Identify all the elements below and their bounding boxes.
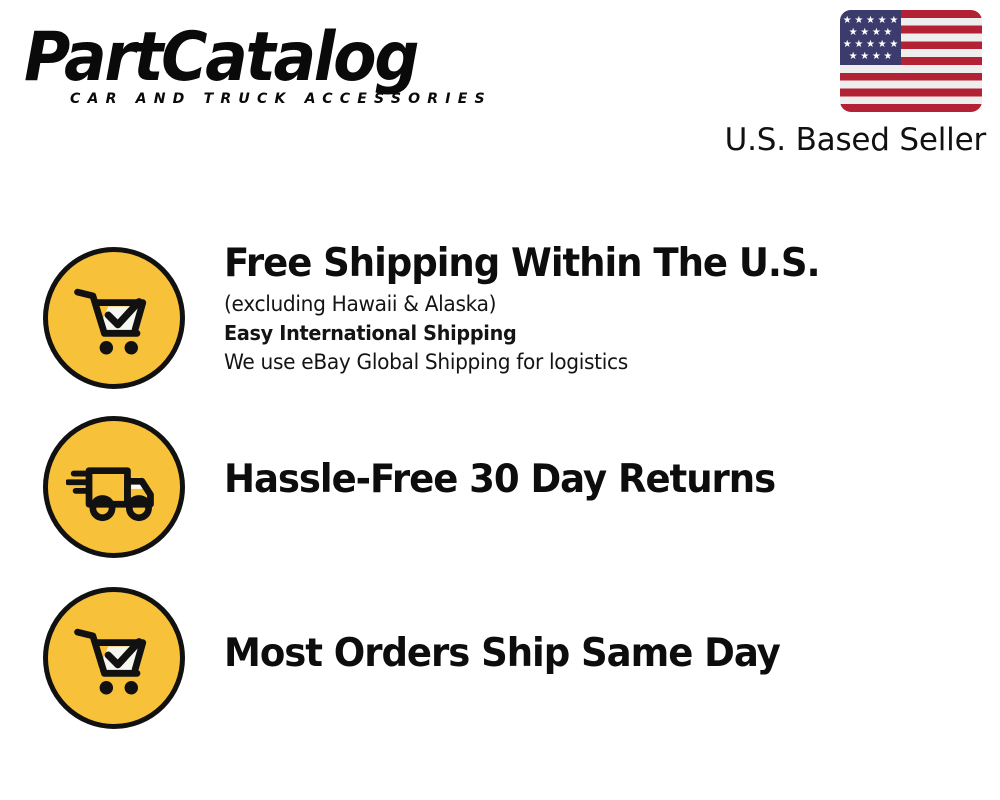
feature-text-block: Hassle-Free 30 Day Returns bbox=[224, 456, 980, 503]
feature-headline: Most Orders Ship Same Day bbox=[224, 630, 942, 677]
brand-logo[interactable]: PartCatalog CAR AND TRUCK ACCESSORIES bbox=[24, 22, 494, 117]
feature-headline: Free Shipping Within The U.S. bbox=[224, 240, 942, 287]
feature-row: Hassle-Free 30 Day Returns bbox=[0, 410, 1000, 582]
flag-star-row: ★★★★★ bbox=[840, 16, 901, 26]
feature-subline-strong: Easy International Shipping bbox=[224, 319, 950, 347]
flag-star-row: ★★★★ bbox=[840, 28, 901, 38]
shopping-cart-check-icon bbox=[43, 587, 185, 729]
brand-tagline: CAR AND TRUCK ACCESSORIES bbox=[70, 91, 492, 107]
feature-row: Most Orders Ship Same Day bbox=[0, 582, 1000, 752]
us-based-seller-label: U.S. Based Seller bbox=[725, 122, 986, 158]
brand-wordmark: PartCatalog bbox=[24, 22, 417, 94]
feature-headline: Hassle-Free 30 Day Returns bbox=[224, 456, 942, 503]
feature-text-block: Most Orders Ship Same Day bbox=[224, 630, 980, 677]
feature-row: Free Shipping Within The U.S. (excluding… bbox=[0, 240, 1000, 410]
us-flag-icon: ★★★★★ ★★★★ ★★★★★ ★★★★ bbox=[840, 10, 982, 112]
shopping-cart-check-icon bbox=[43, 247, 185, 389]
flag-star-row: ★★★★ bbox=[840, 52, 901, 62]
feature-text-block: Free Shipping Within The U.S. (excluding… bbox=[224, 240, 980, 377]
flag-star-row: ★★★★★ bbox=[840, 40, 901, 50]
us-based-seller-badge: ★★★★★ ★★★★ ★★★★★ ★★★★ U.S. Based Seller bbox=[714, 8, 986, 160]
feature-subline: We use eBay Global Shipping for logistic… bbox=[224, 347, 950, 377]
feature-subline: (excluding Hawaii & Alaska) bbox=[224, 289, 950, 319]
delivery-truck-icon bbox=[43, 416, 185, 558]
flag-canton: ★★★★★ ★★★★ ★★★★★ ★★★★ bbox=[840, 10, 901, 65]
